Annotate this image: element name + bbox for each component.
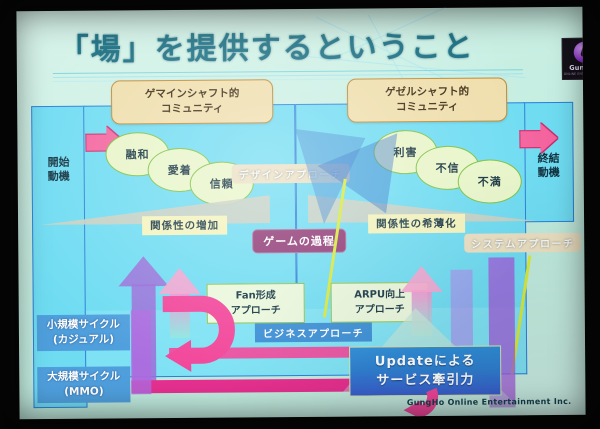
game-process-chip: ゲームの過程 — [252, 229, 346, 254]
end-motivation-label: 終結 動機 — [530, 152, 568, 181]
bubble-shinrai-label: 信頼 — [210, 176, 234, 192]
gungho-mark-icon — [574, 42, 586, 63]
gesellschaft-line1: ゲゼルシャフト的 — [385, 84, 469, 100]
slide-title: 「場」を提供するということ — [59, 22, 475, 69]
gemeinschaft-line1: ゲマインシャフト的 — [145, 86, 240, 102]
large-cycle-line2: (MMO) — [47, 385, 120, 401]
start-motivation-line2: 動機 — [40, 170, 78, 185]
bubble-fushin-label: 不信 — [436, 160, 460, 176]
bubble-fuman-label: 不満 — [478, 173, 502, 189]
fan-approach-line2: アプローチ — [231, 303, 281, 318]
system-approach-chip: システムアプローチ — [464, 233, 581, 253]
gesellschaft-community-box: ゲゼルシャフト的 コミュニティ — [347, 77, 507, 122]
copyright-text: GungHo Online Entertainment Inc. — [407, 397, 572, 407]
gemeinschaft-line2: コミュニティ — [145, 101, 240, 117]
update-line2: サービス牽引力 — [375, 371, 476, 391]
bubble-aichaku-label: 愛着 — [168, 162, 192, 178]
business-approach-chip: ビジネスアプローチ — [255, 322, 372, 342]
relation-increase-chip: 関係性の増加 — [142, 216, 227, 236]
small-cycle-line1: 小規模サイクル — [47, 317, 120, 333]
update-line1: Updateによる — [375, 351, 476, 371]
small-cycle-line2: (カジュアル) — [47, 333, 120, 349]
large-cycle-chip: 大規模サイクル (MMO) — [37, 366, 130, 403]
arpu-approach-line2: アプローチ — [354, 302, 405, 317]
relation-dilution-chip: 関係性の希薄化 — [368, 214, 465, 234]
bubble-rigai-label: 利害 — [393, 144, 417, 160]
arpu-approach-line1: ARPU向上 — [354, 287, 405, 302]
feedback-loop-arrow-icon — [157, 298, 236, 381]
slide-surface: 「場」を提供するということ GungHo ONLINE ENTERTAINMEN… — [16, 7, 585, 419]
large-cycle-line1: 大規模サイクル — [47, 369, 120, 385]
photographed-slide: 「場」を提供するということ GungHo ONLINE ENTERTAINMEN… — [0, 0, 600, 429]
bubble-yuwa-label: 融和 — [125, 146, 149, 162]
start-motivation-line1: 開始 — [40, 156, 78, 171]
vertical-rail-left — [131, 310, 152, 394]
end-motivation-line1: 終結 — [530, 152, 568, 167]
small-cycle-chip: 小規模サイクル (カジュアル) — [37, 314, 130, 351]
gesellschaft-line2: コミュニティ — [385, 100, 469, 116]
fan-approach-line1: Fan形成 — [231, 288, 281, 303]
update-service-box: Updateによる サービス牽引力 — [349, 345, 501, 396]
end-motivation-line2: 動機 — [530, 166, 568, 181]
gemeinschaft-community-box: ゲマインシャフト的 コミュニティ — [111, 79, 273, 124]
start-motivation-panel — [31, 106, 87, 408]
gungho-logo-sub: ONLINE ENTERTAINMENT — [564, 72, 586, 76]
start-motivation-label: 開始 動機 — [40, 156, 78, 185]
gungho-logo: GungHo ONLINE ENTERTAINMENT — [562, 38, 586, 80]
gungho-logo-text: GungHo — [569, 64, 585, 72]
end-arrow-icon — [519, 123, 559, 153]
